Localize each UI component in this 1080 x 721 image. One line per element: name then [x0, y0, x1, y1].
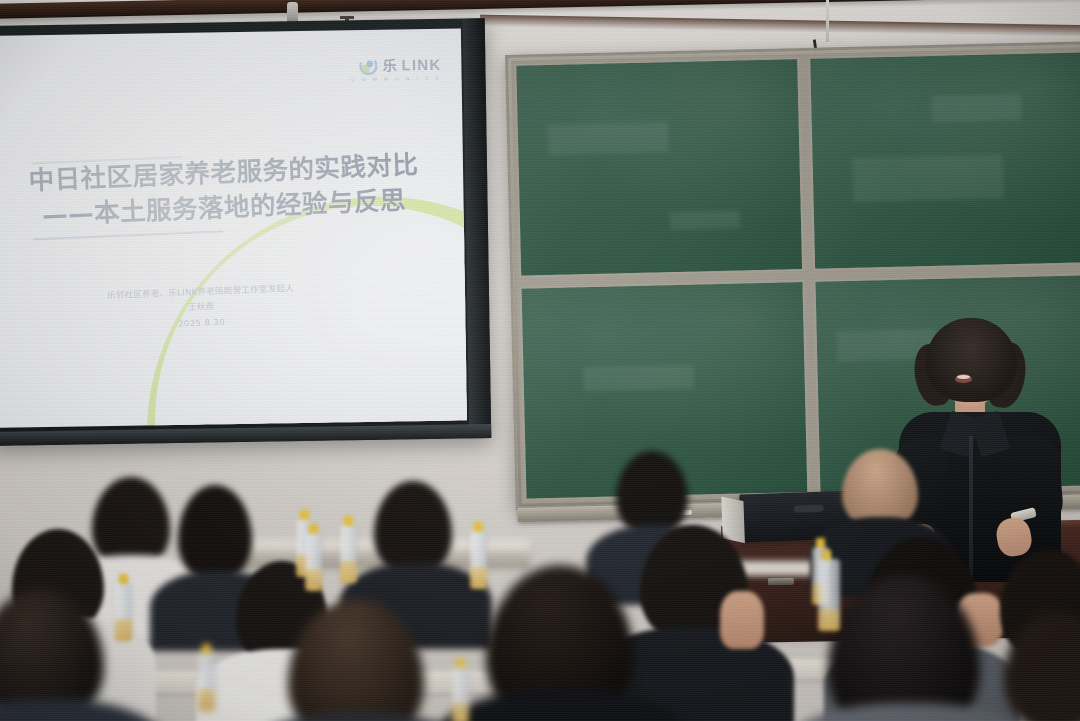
blackboard-panel [514, 57, 803, 278]
water-bottle [198, 653, 215, 711]
lecture-photo-scene: 乐 LINK C O M M U N I T Y 中日社区居家养老服务的实践对比… [0, 0, 1080, 721]
water-bottle [452, 667, 469, 721]
water-bottle [470, 531, 487, 589]
audience-head [178, 485, 252, 581]
audience-hand [720, 591, 764, 649]
logo-cn-char: 乐 [382, 55, 396, 75]
brand-logo: 乐 LINK [359, 55, 441, 76]
blackboard-panel [808, 50, 1080, 271]
audience-area: Sportswear. Have a nice day M [0, 421, 1080, 721]
audience-head [616, 451, 688, 535]
logo-tagline: C O M M U N I T Y [351, 76, 441, 82]
slide-title-block: 中日社区居家养老服务的实践对比 ——本土服务落地的经验与反思 [28, 146, 431, 241]
presentation-slide: 乐 LINK C O M M U N I T Y 中日社区居家养老服务的实践对比… [0, 28, 467, 427]
audience-head [374, 481, 452, 575]
hanging-cord [826, 0, 829, 42]
logo-en-text: LINK [401, 56, 441, 74]
water-bottle [305, 533, 322, 591]
projection-screen: 乐 LINK C O M M U N I T Y 中日社区居家养老服务的实践对比… [0, 18, 491, 446]
speaker-mouth [955, 374, 972, 383]
link-swirl-icon [359, 57, 377, 75]
water-bottle [115, 583, 132, 641]
ceiling-bracket-icon [340, 16, 354, 19]
water-bottle [818, 559, 840, 631]
speaker-hair [925, 318, 1017, 402]
water-bottle [340, 525, 357, 583]
